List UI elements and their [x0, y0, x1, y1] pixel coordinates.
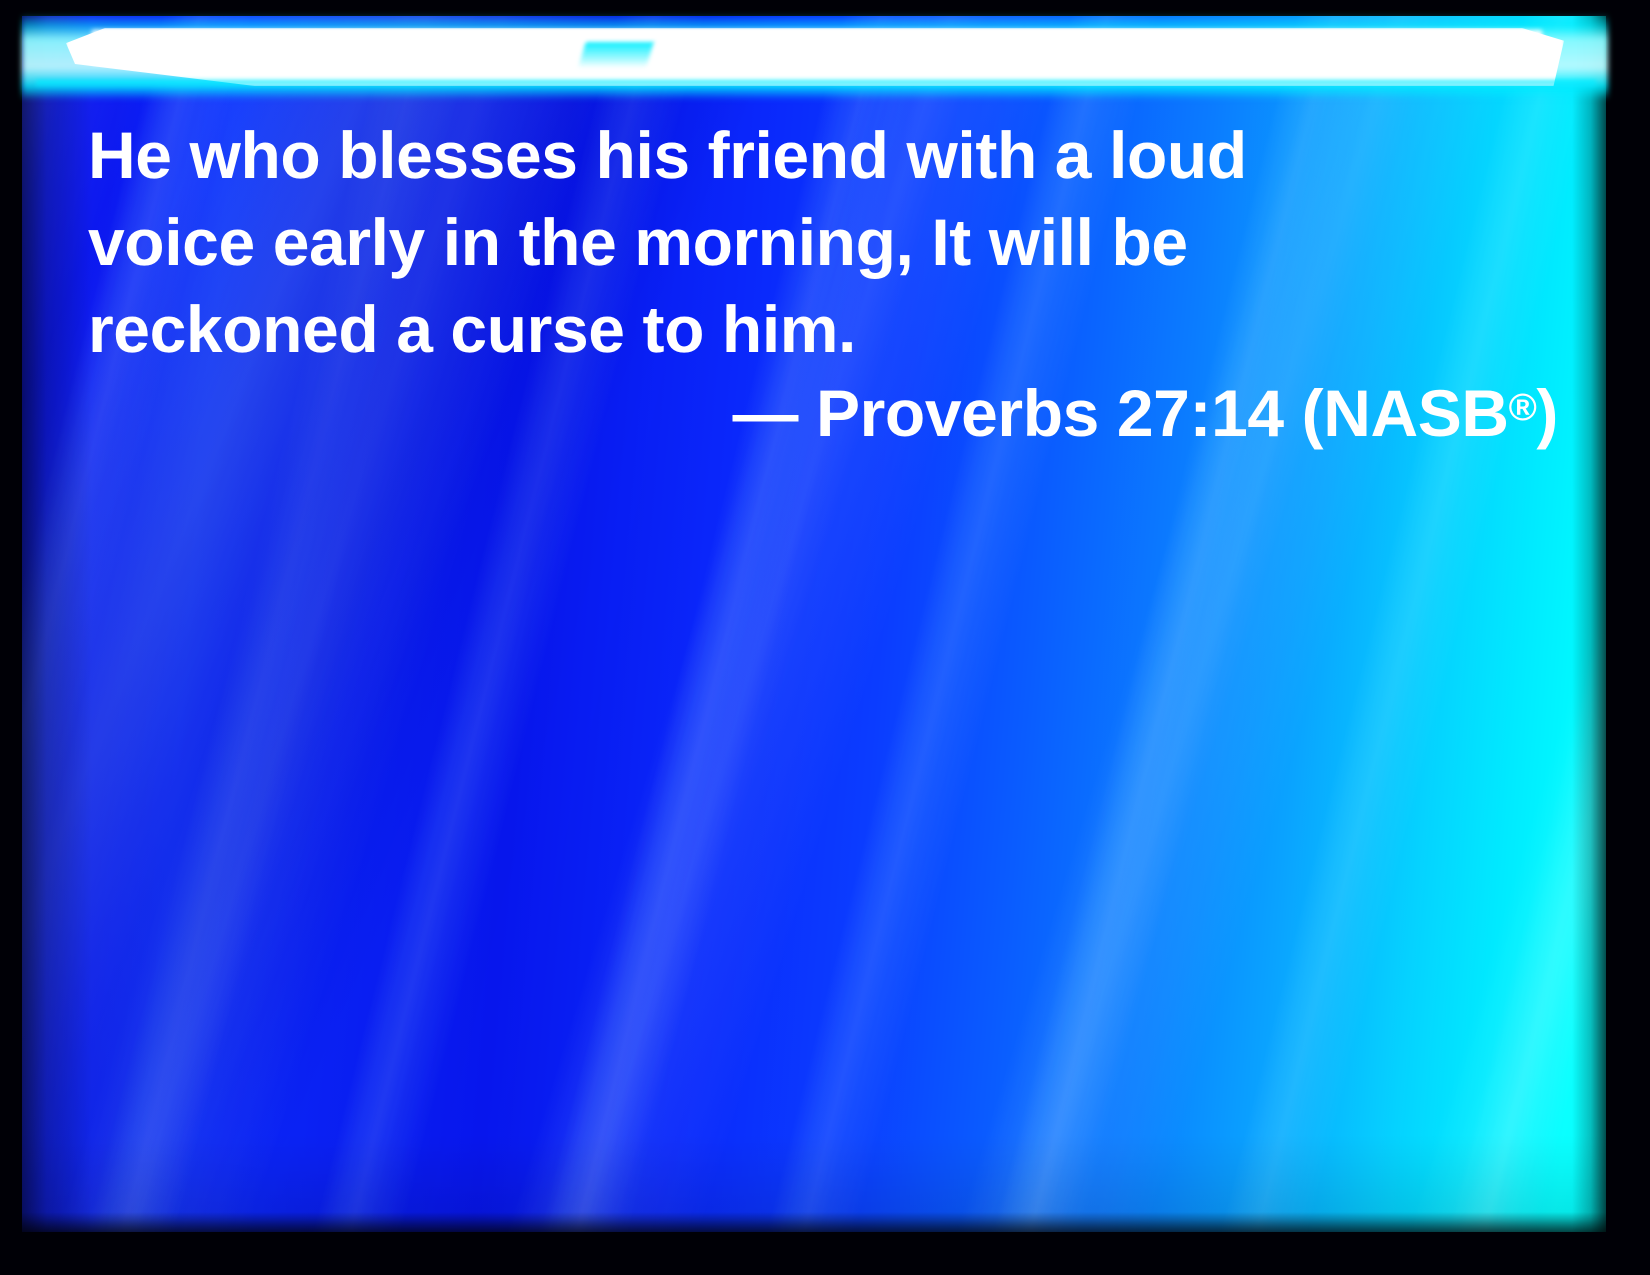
verse-line-1: He who blesses his friend with a loud — [88, 112, 1558, 199]
registered-trademark-icon: ® — [1509, 386, 1537, 429]
attribution-em-dash: — — [732, 376, 816, 450]
verse-line-3: reckoned a curse to him. — [88, 286, 1558, 373]
attribution-reference: Proverbs 27:14 (NASB — [816, 376, 1509, 450]
background-edge-shadow-bottom — [22, 1212, 1606, 1232]
verse-line-2: voice early in the morning, It will be — [88, 199, 1558, 286]
attribution-closing-paren: ) — [1536, 376, 1558, 450]
verse-text: He who blesses his friend with a loud vo… — [88, 112, 1558, 373]
background-edge-shadow-left — [22, 16, 92, 1232]
verse-attribution: — Proverbs 27:14 (NASB®) — [88, 373, 1614, 453]
background-edge-shadow-right — [1572, 16, 1606, 1232]
verse-slide: He who blesses his friend with a loud vo… — [0, 0, 1650, 1275]
